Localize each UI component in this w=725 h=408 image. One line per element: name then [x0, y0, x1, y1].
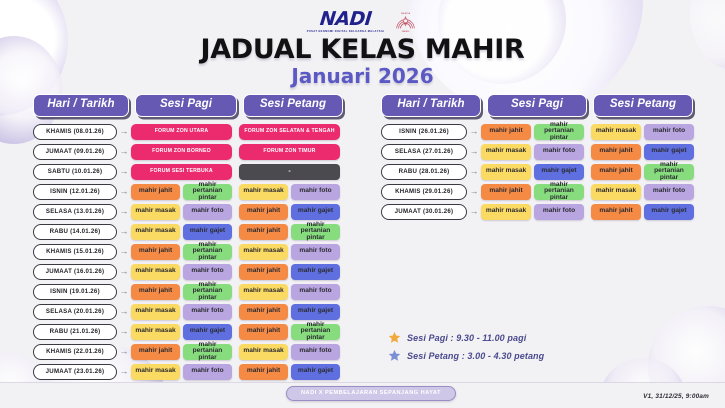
evening-session-cells: mahir jahitmahir gajet	[591, 204, 694, 220]
class-chip-masak[interactable]: mahir masak	[481, 204, 531, 220]
legend-text-pagi: Sesi Pagi : 9.30 - 11.00 pagi	[407, 333, 526, 343]
class-chip-gajet[interactable]: mahir gajet	[291, 264, 340, 280]
class-chip-pertanian[interactable]: mahir pertanian pintar	[183, 184, 232, 200]
arrow-right-icon: →	[117, 187, 131, 196]
class-chip-masak[interactable]: mahir masak	[131, 324, 180, 340]
table-row: JUMAAT (09.01.26)→FORUM ZON BORNEOFORUM …	[33, 144, 351, 160]
class-chip-masak[interactable]: mahir masak	[239, 184, 288, 200]
class-chip-gajet[interactable]: mahir gajet	[534, 164, 584, 180]
evening-session-cells: mahir jahitmahir pertanian pintar	[239, 324, 340, 340]
class-chip-pertanian[interactable]: mahir pertanian pintar	[183, 244, 232, 260]
class-chip-foto[interactable]: mahir foto	[183, 304, 232, 320]
morning-session-cells: mahir masakmahir gajet	[481, 164, 584, 180]
arrow-right-icon: →	[467, 147, 481, 156]
class-chip-jahit[interactable]: mahir jahit	[591, 144, 641, 160]
star-icon-orange	[388, 331, 401, 344]
morning-session-cells: mahir masakmahir gajet	[131, 224, 232, 240]
day-date-cell[interactable]: ISNIN (26.01.26)	[381, 124, 467, 140]
class-chip-jahit[interactable]: mahir jahit	[591, 204, 641, 220]
evening-session-cells: mahir jahitmahir gajet	[591, 144, 694, 160]
column-header-day-right: Hari / Tarikh	[381, 94, 481, 117]
table-row: SABTU (10.01.26)→FORUM SESI TERBUKA-	[33, 164, 351, 180]
evening-session-cells: mahir jahitmahir pertanian pintar	[591, 164, 694, 180]
class-chip-foto[interactable]: mahir foto	[291, 184, 340, 200]
table-row: ISNIN (12.01.26)→mahir jahitmahir pertan…	[33, 184, 351, 200]
nadi-wordmark: NADI	[319, 10, 372, 29]
day-date-cell[interactable]: ISNIN (19.01.26)	[33, 284, 117, 300]
class-chip-jahit[interactable]: mahir jahit	[239, 364, 288, 380]
arrow-right-icon: →	[117, 367, 131, 376]
column-header-morning: Sesi Pagi	[135, 94, 237, 117]
morning-session-cells: mahir masakmahir foto	[481, 204, 584, 220]
evening-session-cells: FORUM ZON SELATAN & TENGAH	[239, 124, 340, 140]
arrow-right-icon: →	[467, 207, 481, 216]
day-date-cell[interactable]: SABTU (10.01.26)	[33, 164, 117, 180]
morning-session-cells: mahir masakmahir foto	[131, 204, 232, 220]
table-row: RABU (28.01.26)→mahir masakmahir gajetma…	[381, 164, 703, 180]
class-chip-forum[interactable]: FORUM ZON UTARA	[131, 124, 232, 140]
day-date-cell[interactable]: KHAMIS (08.01.26)	[33, 124, 117, 140]
morning-session-cells: mahir jahitmahir pertanian pintar	[131, 344, 232, 360]
arrow-right-icon: →	[117, 347, 131, 356]
class-chip-pertanian[interactable]: mahir pertanian pintar	[534, 184, 584, 200]
class-chip-jahit[interactable]: mahir jahit	[131, 344, 180, 360]
class-chip-pertanian[interactable]: mahir pertanian pintar	[291, 324, 340, 340]
version-label: V1, 31/12/25, 9:00am	[643, 393, 709, 400]
schedule-rows-right: ISNIN (26.01.26)→mahir jahitmahir pertan…	[381, 124, 703, 224]
column-header-evening: Sesi Petang	[243, 94, 343, 117]
evening-session-cells: mahir jahitmahir pertanian pintar	[239, 224, 340, 240]
column-header-morning-right: Sesi Pagi	[487, 94, 587, 117]
table-row: SELASA (13.01.26)→mahir masakmahir fotom…	[33, 204, 351, 220]
day-date-cell[interactable]: RABU (28.01.26)	[381, 164, 467, 180]
class-chip-gajet[interactable]: mahir gajet	[291, 364, 340, 380]
arrow-right-icon: →	[467, 187, 481, 196]
class-chip-foto[interactable]: mahir foto	[291, 284, 340, 300]
evening-session-cells: mahir masakmahir foto	[591, 184, 694, 200]
class-chip-jahit[interactable]: mahir jahit	[239, 324, 288, 340]
evening-session-cells: mahir masakmahir foto	[591, 124, 694, 140]
class-chip-jahit[interactable]: mahir jahit	[481, 124, 531, 140]
evening-session-cells: mahir masakmahir foto	[239, 284, 340, 300]
class-chip-jahit[interactable]: mahir jahit	[239, 204, 288, 220]
schedule-table-left: Hari / Tarikh Sesi Pagi Sesi Petang KHAM…	[33, 94, 351, 384]
class-chip-masak[interactable]: mahir masak	[131, 264, 180, 280]
evening-session-cells: -	[239, 164, 340, 180]
morning-session-cells: mahir masakmahir foto	[481, 144, 584, 160]
class-chip-masak[interactable]: mahir masak	[131, 304, 180, 320]
column-header-evening-right: Sesi Petang	[593, 94, 693, 117]
day-date-cell[interactable]: KHAMIS (29.01.26)	[381, 184, 467, 200]
class-chip-dash[interactable]: -	[239, 164, 340, 180]
arrow-right-icon: →	[117, 167, 131, 176]
morning-session-cells: mahir jahitmahir pertanian pintar	[131, 284, 232, 300]
table-row: JUMAAT (16.01.26)→mahir masakmahir fotom…	[33, 264, 351, 280]
class-chip-foto[interactable]: mahir foto	[291, 344, 340, 360]
arrow-right-icon: →	[117, 287, 131, 296]
schedule-rows-left: KHAMIS (08.01.26)→FORUM ZON UTARAFORUM Z…	[33, 124, 351, 384]
class-chip-forum[interactable]: FORUM ZON BORNEO	[131, 144, 232, 160]
morning-session-cells: mahir masakmahir foto	[131, 304, 232, 320]
arrow-right-icon: →	[117, 147, 131, 156]
class-chip-gajet[interactable]: mahir gajet	[644, 204, 694, 220]
morning-session-cells: mahir jahitmahir pertanian pintar	[131, 184, 232, 200]
class-chip-masak[interactable]: mahir masak	[131, 364, 180, 380]
star-icon-blue	[388, 349, 401, 362]
class-chip-forum[interactable]: FORUM SESI TERBUKA	[131, 164, 232, 180]
class-chip-gajet[interactable]: mahir gajet	[291, 304, 340, 320]
class-chip-forum[interactable]: FORUM ZON TIMUR	[239, 144, 340, 160]
class-chip-foto[interactable]: mahir foto	[534, 204, 584, 220]
class-chip-jahit[interactable]: mahir jahit	[591, 164, 641, 180]
class-chip-jahit[interactable]: mahir jahit	[239, 224, 288, 240]
class-chip-foto[interactable]: mahir foto	[644, 184, 694, 200]
class-chip-jahit[interactable]: mahir jahit	[131, 184, 180, 200]
evening-session-cells: mahir jahitmahir gajet	[239, 264, 340, 280]
evening-session-cells: mahir masakmahir foto	[239, 344, 340, 360]
evening-session-cells: mahir masakmahir foto	[239, 184, 340, 200]
column-header-day: Hari / Tarikh	[33, 94, 129, 117]
class-chip-pertanian[interactable]: mahir pertanian pintar	[644, 164, 694, 180]
table-row: RABU (21.01.26)→mahir masakmahir gajetma…	[33, 324, 351, 340]
class-chip-foto[interactable]: mahir foto	[183, 364, 232, 380]
class-chip-foto[interactable]: mahir foto	[534, 144, 584, 160]
class-chip-masak[interactable]: mahir masak	[481, 144, 531, 160]
class-chip-gajet[interactable]: mahir gajet	[644, 144, 694, 160]
table-row: KHAMIS (29.01.26)→mahir jahitmahir perta…	[381, 184, 703, 200]
table-row: KHAMIS (15.01.26)→mahir jahitmahir perta…	[33, 244, 351, 260]
class-chip-gajet[interactable]: mahir gajet	[183, 324, 232, 340]
morning-session-cells: FORUM SESI TERBUKA	[131, 164, 232, 180]
legend-item-pagi: Sesi Pagi : 9.30 - 11.00 pagi	[388, 331, 544, 344]
column-header-row-left: Hari / Tarikh Sesi Pagi Sesi Petang	[33, 94, 351, 117]
class-chip-masak[interactable]: mahir masak	[131, 204, 180, 220]
evening-session-cells: mahir masakmahir foto	[239, 244, 340, 260]
class-chip-foto[interactable]: mahir foto	[183, 204, 232, 220]
table-row: SELASA (27.01.26)→mahir masakmahir fotom…	[381, 144, 703, 160]
arrow-right-icon: →	[117, 327, 131, 336]
table-row: RABU (14.01.26)→mahir masakmahir gajetma…	[33, 224, 351, 240]
column-header-row-right: Hari / Tarikh Sesi Pagi Sesi Petang	[381, 94, 703, 117]
morning-session-cells: mahir masakmahir foto	[131, 364, 232, 380]
morning-session-cells: mahir masakmahir gajet	[131, 324, 232, 340]
class-chip-gajet[interactable]: mahir gajet	[183, 224, 232, 240]
arrow-right-icon: →	[117, 127, 131, 136]
arrow-right-icon: →	[117, 227, 131, 236]
legend: Sesi Pagi : 9.30 - 11.00 pagi Sesi Petan…	[388, 331, 544, 367]
day-date-cell[interactable]: ISNIN (12.01.26)	[33, 184, 117, 200]
class-chip-masak[interactable]: mahir masak	[591, 124, 641, 140]
table-row: KHAMIS (08.01.26)→FORUM ZON UTARAFORUM Z…	[33, 124, 351, 140]
poster-header: NADI PUSAT EKONOMI DIGITAL KELUARGA MALA…	[0, 0, 725, 87]
arrow-right-icon: →	[117, 247, 131, 256]
day-date-cell[interactable]: JUMAAT (23.01.26)	[33, 364, 117, 380]
table-row: KHAMIS (22.01.26)→mahir jahitmahir perta…	[33, 344, 351, 360]
day-date-cell[interactable]: KHAMIS (15.01.26)	[33, 244, 117, 260]
class-chip-masak[interactable]: mahir masak	[239, 344, 288, 360]
svg-text:MADANI: MADANI	[402, 30, 410, 33]
class-chip-masak[interactable]: mahir masak	[239, 244, 288, 260]
schedule-poster: NADI PUSAT EKONOMI DIGITAL KELUARGA MALA…	[0, 0, 725, 408]
day-date-cell[interactable]: JUMAAT (09.01.26)	[33, 144, 117, 160]
class-chip-pertanian[interactable]: mahir pertanian pintar	[291, 224, 340, 240]
day-date-cell[interactable]: RABU (21.01.26)	[33, 324, 117, 340]
table-row: JUMAAT (30.01.26)→mahir masakmahir fotom…	[381, 204, 703, 220]
arrow-right-icon: →	[467, 127, 481, 136]
svg-text:MALAYSIA: MALAYSIA	[401, 12, 411, 15]
class-chip-jahit[interactable]: mahir jahit	[239, 304, 288, 320]
morning-session-cells: mahir masakmahir foto	[131, 264, 232, 280]
class-chip-foto[interactable]: mahir foto	[183, 264, 232, 280]
morning-session-cells: FORUM ZON BORNEO	[131, 144, 232, 160]
class-chip-pertanian[interactable]: mahir pertanian pintar	[183, 344, 232, 360]
schedule-tables: Hari / Tarikh Sesi Pagi Sesi Petang KHAM…	[0, 87, 725, 384]
table-row: ISNIN (26.01.26)→mahir jahitmahir pertan…	[381, 124, 703, 140]
arrow-right-icon: →	[117, 307, 131, 316]
class-chip-pertanian[interactable]: mahir pertanian pintar	[534, 124, 584, 140]
footer-tagline: NADI X PEMBELAJARAN SEPANJANG HAYAT	[286, 386, 456, 401]
table-row: ISNIN (19.01.26)→mahir jahitmahir pertan…	[33, 284, 351, 300]
class-chip-masak[interactable]: mahir masak	[131, 224, 180, 240]
day-date-cell[interactable]: KHAMIS (22.01.26)	[33, 344, 117, 360]
table-row: JUMAAT (23.01.26)→mahir masakmahir fotom…	[33, 364, 351, 380]
class-chip-masak[interactable]: mahir masak	[481, 164, 531, 180]
morning-session-cells: FORUM ZON UTARA	[131, 124, 232, 140]
evening-session-cells: mahir jahitmahir gajet	[239, 364, 340, 380]
class-chip-masak[interactable]: mahir masak	[239, 284, 288, 300]
evening-session-cells: FORUM ZON TIMUR	[239, 144, 340, 160]
morning-session-cells: mahir jahitmahir pertanian pintar	[481, 184, 584, 200]
class-chip-masak[interactable]: mahir masak	[591, 184, 641, 200]
day-date-cell[interactable]: SELASA (20.01.26)	[33, 304, 117, 320]
class-chip-foto[interactable]: mahir foto	[644, 124, 694, 140]
page-subtitle: Januari 2026	[0, 65, 725, 87]
day-date-cell[interactable]: JUMAAT (16.01.26)	[33, 264, 117, 280]
class-chip-gajet[interactable]: mahir gajet	[291, 204, 340, 220]
page-title: JADUAL KELAS MAHIR	[0, 36, 725, 64]
class-chip-pertanian[interactable]: mahir pertanian pintar	[183, 284, 232, 300]
class-chip-jahit[interactable]: mahir jahit	[131, 284, 180, 300]
table-row: SELASA (20.01.26)→mahir masakmahir fotom…	[33, 304, 351, 320]
arrow-right-icon: →	[117, 267, 131, 276]
day-date-cell[interactable]: RABU (14.01.26)	[33, 224, 117, 240]
class-chip-jahit[interactable]: mahir jahit	[481, 184, 531, 200]
day-date-cell[interactable]: SELASA (27.01.26)	[381, 144, 467, 160]
morning-session-cells: mahir jahitmahir pertanian pintar	[131, 244, 232, 260]
morning-session-cells: mahir jahitmahir pertanian pintar	[481, 124, 584, 140]
evening-session-cells: mahir jahitmahir gajet	[239, 304, 340, 320]
nadi-logo: NADI PUSAT EKONOMI DIGITAL KELUARGA MALA…	[307, 10, 385, 33]
legend-text-petang: Sesi Petang : 3.00 - 4.30 petang	[407, 351, 544, 361]
logo-row: NADI PUSAT EKONOMI DIGITAL KELUARGA MALA…	[0, 8, 725, 34]
day-date-cell[interactable]: JUMAAT (30.01.26)	[381, 204, 467, 220]
arrow-right-icon: →	[467, 167, 481, 176]
class-chip-foto[interactable]: mahir foto	[291, 244, 340, 260]
day-date-cell[interactable]: SELASA (13.01.26)	[33, 204, 117, 220]
arrow-right-icon: →	[117, 207, 131, 216]
evening-session-cells: mahir jahitmahir gajet	[239, 204, 340, 220]
class-chip-jahit[interactable]: mahir jahit	[239, 264, 288, 280]
malaysia-crest-emblem-icon: MALAYSIA MADANI	[393, 9, 418, 34]
class-chip-jahit[interactable]: mahir jahit	[131, 244, 180, 260]
legend-item-petang: Sesi Petang : 3.00 - 4.30 petang	[388, 349, 544, 362]
class-chip-forum[interactable]: FORUM ZON SELATAN & TENGAH	[239, 124, 340, 140]
